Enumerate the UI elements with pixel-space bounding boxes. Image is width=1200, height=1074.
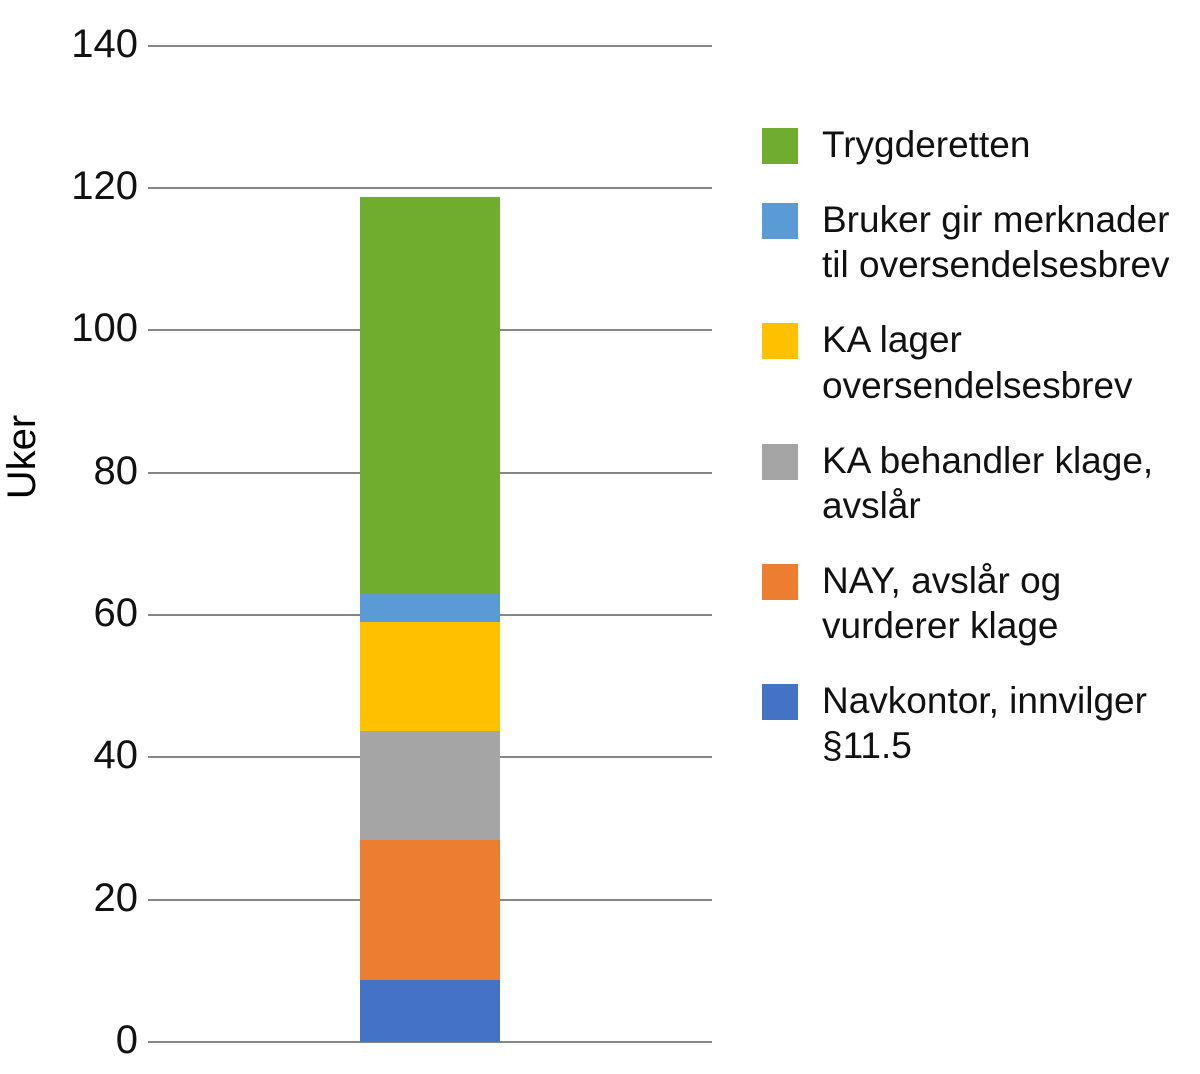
chart-page: Uker 140120100806040200 TrygderettenBruk… [0, 0, 1200, 1074]
bar-segment[interactable] [360, 594, 500, 622]
legend-swatch-icon [762, 128, 798, 164]
legend-item[interactable]: Bruker gir merknader til oversendelsesbr… [762, 197, 1200, 287]
y-tick-label: 20 [6, 878, 138, 918]
bar-segment[interactable] [360, 731, 500, 840]
legend-item[interactable]: KA behandler klage, avslår [762, 438, 1200, 528]
legend-item[interactable]: Navkontor, innvilger §11.5 [762, 678, 1200, 768]
bar-segment[interactable] [360, 980, 500, 1042]
legend-item[interactable]: Trygderetten [762, 122, 1200, 167]
y-tick-label: 0 [6, 1020, 138, 1060]
y-tick-label: 100 [6, 308, 138, 348]
y-tick-label: 120 [6, 166, 138, 206]
y-tick-label: 140 [6, 24, 138, 64]
legend-item[interactable]: KA lager oversendelsesbrev [762, 317, 1200, 407]
plot-area: Uker 140120100806040200 [0, 0, 760, 1074]
y-tick-label: 80 [6, 451, 138, 491]
bar-segment[interactable] [360, 197, 500, 593]
legend-item-label: NAY, avslår og vurderer klage [822, 558, 1200, 648]
legend-swatch-icon [762, 203, 798, 239]
bar-segment[interactable] [360, 840, 500, 980]
legend-item-label: KA behandler klage, avslår [822, 438, 1200, 528]
legend-swatch-icon [762, 323, 798, 359]
legend-item-label: KA lager oversendelsesbrev [822, 317, 1200, 407]
legend-swatch-icon [762, 444, 798, 480]
bar-segment[interactable] [360, 622, 500, 731]
legend-swatch-icon [762, 564, 798, 600]
y-tick-label: 40 [6, 735, 138, 775]
legend-swatch-icon [762, 684, 798, 720]
legend-item-label: Trygderetten [822, 122, 1200, 167]
chart-legend: TrygderettenBruker gir merknader til ove… [762, 122, 1200, 798]
gridline-140 [148, 45, 712, 47]
legend-item-label: Bruker gir merknader til oversendelsesbr… [822, 197, 1200, 287]
gridline-120 [148, 187, 712, 189]
legend-item[interactable]: NAY, avslår og vurderer klage [762, 558, 1200, 648]
y-tick-label: 60 [6, 593, 138, 633]
legend-item-label: Navkontor, innvilger §11.5 [822, 678, 1200, 768]
